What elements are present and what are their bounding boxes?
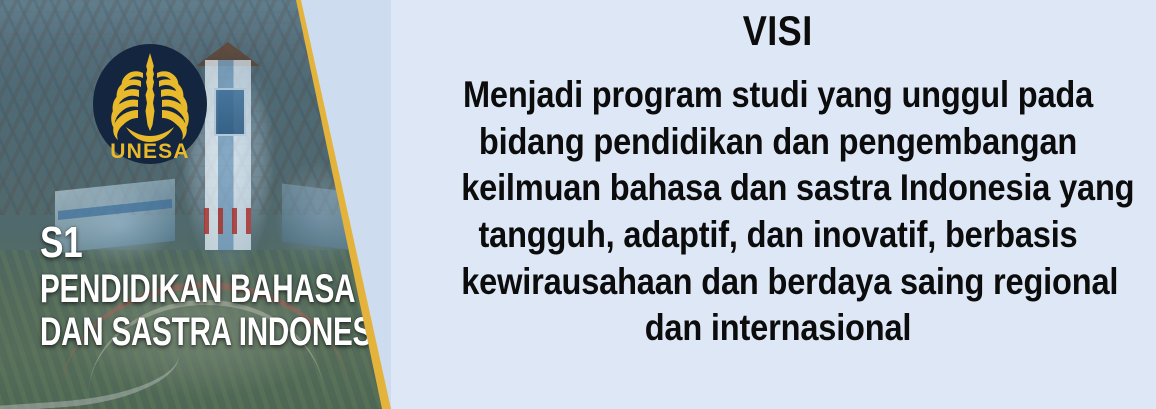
vision-title: VISI (743, 8, 813, 54)
vision-body: Menjadi program studi yang unggul pada b… (461, 72, 1095, 352)
degree-level-label: S1 (40, 222, 304, 264)
vision-body-line-3: keilmuan bahasa dan sastra Indonesia yan… (461, 165, 1095, 212)
vision-body-line-5: kewirausahaan dan berdaya saing regional (461, 259, 1095, 306)
unesa-logo-spire (146, 53, 155, 131)
vision-body-line-6: dan internasional (461, 305, 1095, 352)
photo-tower-window (214, 88, 246, 136)
vision-content: VISI Menjadi program studi yang unggul p… (400, 0, 1156, 409)
unesa-logo-wordmark: UNESA (110, 140, 190, 163)
vision-body-line-1: Menjadi program studi yang unggul pada (461, 72, 1095, 119)
vision-body-line-4: tangguh, adaptif, dan inovatif, berbasis (461, 212, 1095, 259)
program-headline: S1 PENDIDIKAN BAHASA DAN SASTRA INDONESI… (40, 222, 370, 353)
vision-body-line-2: bidang pendidikan dan pengembangan (461, 119, 1095, 166)
unesa-logo: UNESA (92, 43, 208, 165)
program-name-line-1: PENDIDIKAN BAHASA (40, 268, 284, 310)
vision-slide: UNESA S1 PENDIDIKAN BAHASA DAN SASTRA IN… (0, 0, 1156, 409)
program-name-line-2: DAN SASTRA INDONESIA (40, 311, 284, 353)
